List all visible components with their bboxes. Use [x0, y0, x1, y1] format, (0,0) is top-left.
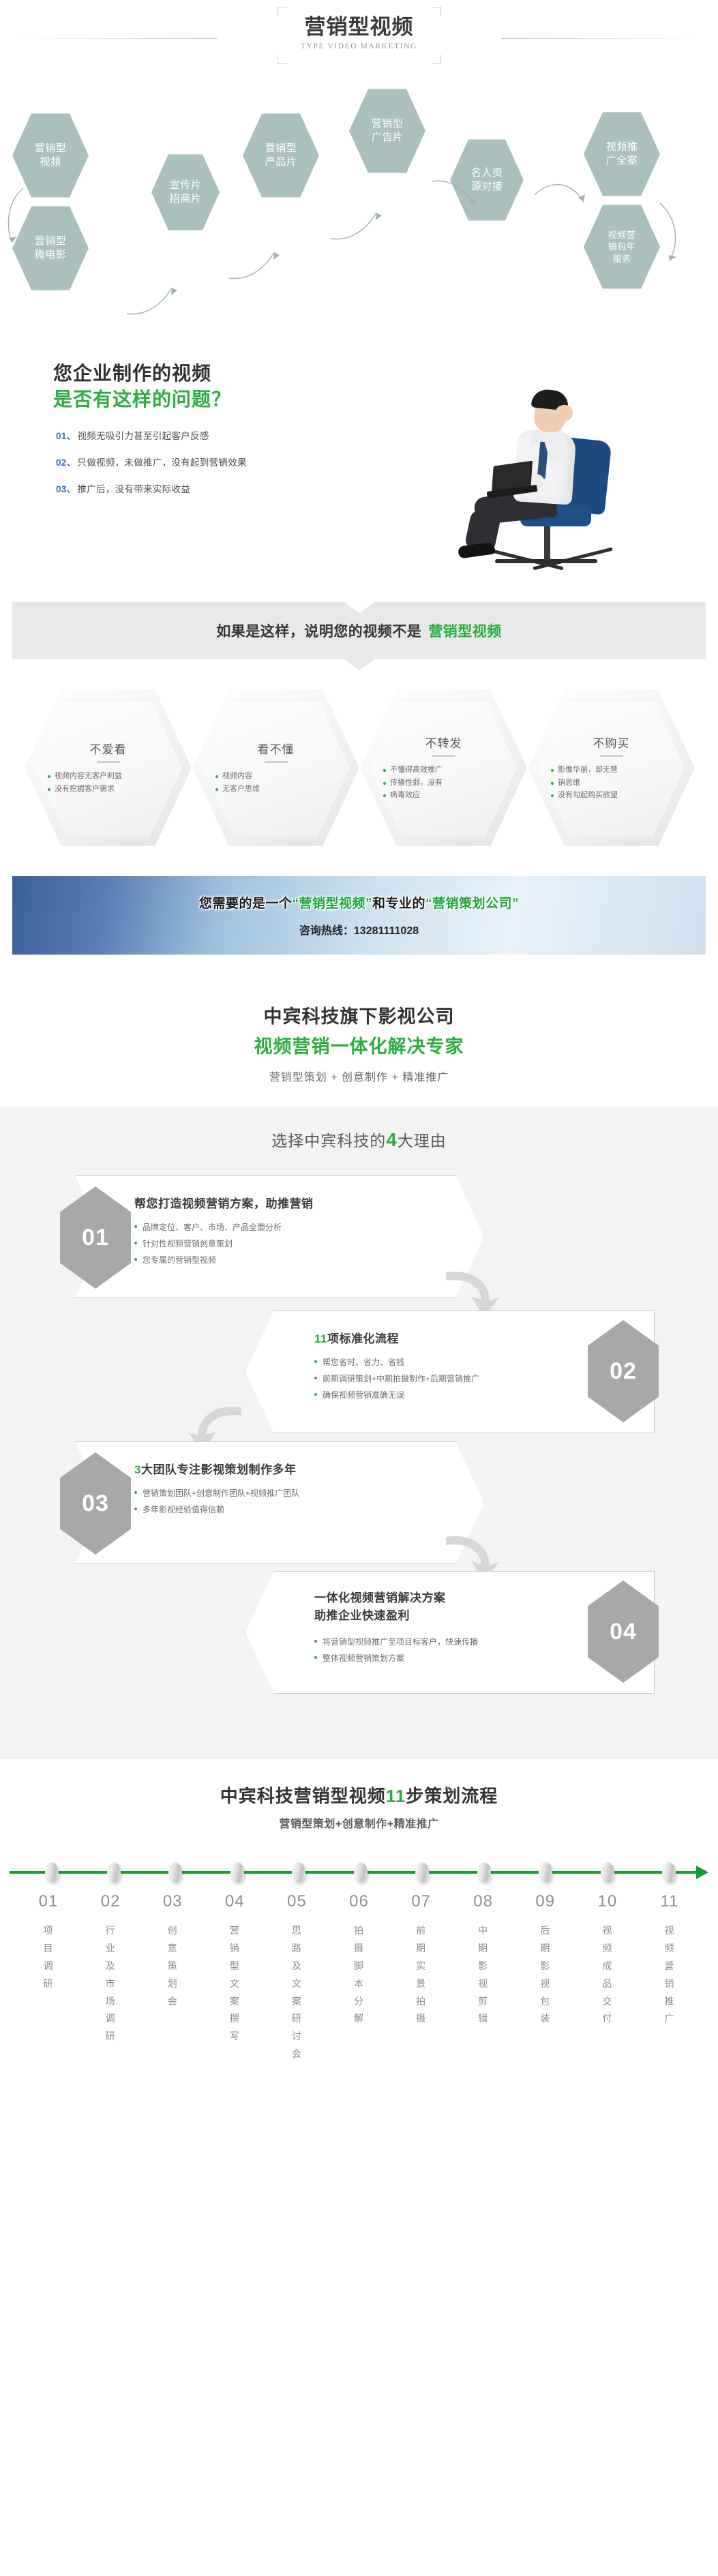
problem-item-text: 视频无吸引力甚至引起客户反感	[77, 431, 209, 441]
cta-hotline[interactable]: 咨询热线：13281111028	[299, 921, 419, 938]
company-slogan: 视频营销一体化解决专家	[0, 1032, 718, 1058]
reason-title: 帮您打造视频营销方案，助推营销	[134, 1194, 483, 1211]
header-rule-right	[501, 38, 706, 39]
hex-card-2[interactable]: 宣传片 招商片	[151, 153, 220, 232]
hotline-label: 咨询热线：	[299, 925, 354, 937]
symptom-hex-3[interactable]: 不转发 不懂得高效推广 传播性弱，没有 病毒效应	[360, 689, 527, 846]
hex-line: 销包年	[608, 241, 636, 253]
hex-line: 产品片	[265, 155, 297, 169]
problem-item-number: 02、	[56, 458, 76, 468]
symptom-point: 视频内容无客户利益	[48, 770, 168, 783]
conclusion-band: 如果是这样，说明您的视频不是营销型视频	[0, 597, 718, 684]
timeline-dot	[415, 1862, 429, 1883]
hex-line: 招商片	[170, 192, 202, 206]
step-number: 04	[213, 1892, 256, 1911]
step-label: 行业及市场调研	[89, 1922, 132, 2046]
reasons-heading-number: 4	[386, 1129, 398, 1150]
step-label: 营销型文案撰写	[213, 1922, 256, 2046]
cta-quote-2: “营销策划公司”	[425, 897, 519, 911]
cta-middle: 和专业的	[372, 897, 425, 911]
timeline-dot	[662, 1862, 676, 1883]
conclusion-text-plain: 如果是这样，说明您的视频不是	[216, 624, 421, 640]
step-label: 视频营销推广	[648, 1922, 691, 2028]
steps-section: 中宾科技营销型视频11步策划流程 营销型策划+创意制作+精准推广	[0, 1759, 718, 2088]
symptom-title: 不转发	[425, 734, 462, 751]
reason-title-number: 11	[314, 1332, 327, 1345]
step-number: 11	[648, 1892, 691, 1911]
connector-arrow-icon	[123, 280, 184, 320]
step-item[interactable]: 04 营销型文案撰写	[213, 1892, 256, 2063]
hex-line: 视频	[35, 155, 67, 169]
service-hex-cloud: 营销型 视频 宣传片 招商片 营销型 产品片 营销型 广告片 名人资	[0, 82, 718, 334]
timeline-dot	[354, 1862, 368, 1883]
corner-bracket-icon	[432, 7, 441, 16]
band-notch-top-icon	[344, 602, 374, 613]
problem-section: 您企业制作的视频 是否有这样的问题？ 01、视频无吸引力甚至引起客户反感 02、…	[0, 334, 718, 597]
cta-headline: 您需要的是一个“营销型视频”和专业的“营销策划公司”	[199, 893, 519, 912]
step-item[interactable]: 06 拍摄脚本分解	[338, 1892, 380, 2063]
problem-list-item: 03、推广后，没有带来实际收益	[56, 481, 247, 495]
step-label: 思路及文案研讨会	[275, 1922, 318, 2063]
problem-list-item: 01、视频无吸引力甚至引起客户反感	[56, 428, 247, 442]
symptom-point: 传播性弱，没有	[383, 777, 504, 790]
connector-arrow-icon	[430, 177, 491, 215]
symptom-hex-2[interactable]: 看不懂 视频内容 无客户思维	[192, 689, 359, 846]
step-label: 后期影视包装	[524, 1922, 567, 2028]
step-label: 拍摄脚本分解	[338, 1922, 380, 2028]
step-number: 05	[275, 1892, 318, 1911]
step-number: 03	[151, 1892, 194, 1911]
step-item[interactable]: 10 视频成品交付	[586, 1892, 629, 2063]
cta-banner: 您需要的是一个“营销型视频”和专业的“营销策划公司” 咨询热线：13281111…	[12, 876, 706, 955]
businessman-photo	[455, 341, 653, 566]
company-services: 营销型策划 + 创意制作 + 精准推广	[0, 1068, 718, 1084]
hotline-number: 13281111028	[354, 925, 419, 937]
header-title-block: 营销型视频 TYPE VIDEO MARKETING	[278, 7, 441, 64]
step-item[interactable]: 02 行业及市场调研	[89, 1892, 132, 2063]
step-item[interactable]: 08 中期影视剪辑	[462, 1892, 505, 2063]
connector-arrow-icon	[327, 205, 389, 245]
steps-columns: 01 项目调研 02 行业及市场调研 03 创意策划会 04 营销型文案撰写 0…	[10, 1892, 708, 2063]
band-notch-bottom-icon	[344, 659, 374, 670]
page-header: 营销型视频 TYPE VIDEO MARKETING	[0, 0, 718, 82]
step-label: 视频成品交付	[586, 1922, 629, 2028]
timeline-dot	[601, 1862, 614, 1883]
reason-title-plain: 一体化视频营销解决方案	[314, 1591, 446, 1604]
problem-title-line2: 是否有这样的问题？	[53, 385, 231, 412]
reason-title: 3大团队专注影视策划制作多年	[134, 1460, 483, 1477]
symptom-hex-4[interactable]: 不购买 影像华丽，却无营 销思维 没有勾起购买欲望	[528, 689, 695, 846]
symptom-point: 视频内容	[215, 770, 336, 783]
cta-quote-1: “营销型视频”	[292, 897, 372, 911]
symptom-title: 不爱看	[90, 740, 127, 757]
symptom-divider	[600, 755, 623, 757]
symptom-point: 病毒效应	[383, 789, 504, 802]
symptom-point: 影像华丽，却无营	[551, 764, 672, 777]
hex-card-4[interactable]: 营销型 广告片	[349, 87, 425, 175]
reason-point: 您专属的营销型视频	[134, 1252, 483, 1268]
steps-timeline	[10, 1862, 708, 1883]
step-item[interactable]: 05 思路及文案研讨会	[275, 1892, 318, 2063]
conclusion-text: 如果是这样，说明您的视频不是营销型视频	[216, 620, 502, 641]
symptom-point: 销思维	[551, 777, 672, 790]
corner-bracket-icon	[432, 55, 441, 64]
reason-title-number: 3	[134, 1463, 141, 1476]
steps-heading-number: 11	[386, 1786, 406, 1806]
reasons-heading: 选择中宾科技的4大理由	[0, 1128, 718, 1151]
timeline-dot	[45, 1862, 59, 1883]
reason-point: 品牌定位、客户、市场、产品全面分析	[134, 1219, 483, 1235]
step-number: 09	[524, 1892, 567, 1911]
hex-line: 服务	[608, 253, 636, 265]
reason-title-rest: 大团队专注影视策划制作多年	[141, 1463, 297, 1476]
step-label: 项目调研	[27, 1922, 70, 1993]
step-number: 10	[586, 1892, 629, 1911]
company-intro: 中宾科技旗下影视公司 视频营销一体化解决专家 营销型策划 + 创意制作 + 精准…	[0, 984, 718, 1107]
hex-line: 广全案	[606, 154, 638, 168]
symptom-divider	[97, 761, 120, 763]
hex-line: 营销型	[265, 142, 297, 155]
step-item[interactable]: 09 后期影视包装	[524, 1892, 567, 2063]
step-item[interactable]: 03 创意策划会	[151, 1892, 194, 2063]
cta-prefix: 您需要的是一个	[199, 897, 293, 911]
step-item[interactable]: 01 项目调研	[27, 1892, 70, 2063]
reasons-stage: 帮您打造视频营销方案，助推营销 品牌定位、客户、市场、产品全面分析 针对性视频营…	[0, 1169, 718, 1728]
symptom-title: 看不懂	[258, 740, 295, 757]
hex-line: 视频营	[608, 229, 636, 241]
problem-item-number: 03、	[56, 484, 76, 494]
connector-arrow-icon	[655, 199, 695, 274]
symptom-title: 不购买	[593, 734, 630, 751]
reasons-section: 选择中宾科技的4大理由 帮您打造视频营销方案，助推营销 品牌定位、客户、市场、产…	[0, 1107, 718, 1759]
problem-list: 01、视频无吸引力甚至引起客户反感 02、只做视频，未做推广，没有起到营销效果 …	[56, 428, 247, 508]
timeline-dots	[10, 1862, 708, 1883]
reason-card-3[interactable]: 3大团队专注影视策划制作多年 营销策划团队+创意制作团队+视频推广团队 多年影视…	[75, 1441, 484, 1564]
symptom-hex-row: 不爱看 视频内容无客户利益 没有挖掘客户需求 看不懂 视频内容 无客户思维 不转…	[0, 684, 718, 854]
reason-point: 多年影视经验值得信赖	[134, 1501, 483, 1518]
steps-heading-suffix: 步策划流程	[406, 1786, 498, 1806]
reason-card-1[interactable]: 帮您打造视频营销方案，助推营销 品牌定位、客户、市场、产品全面分析 针对性视频营…	[75, 1175, 484, 1298]
step-number: 06	[338, 1892, 380, 1911]
symptom-point: 没有勾起购买欲望	[551, 789, 672, 802]
reason-point: 营销策划团队+创意制作团队+视频推广团队	[134, 1485, 483, 1501]
problem-item-number: 01、	[56, 431, 76, 441]
symptom-divider	[265, 761, 288, 763]
header-rule-left	[12, 38, 217, 39]
steps-subtitle: 营销型策划+创意制作+精准推广	[0, 1814, 718, 1831]
hex-card-3[interactable]: 营销型 产品片	[243, 112, 319, 199]
cta-section: 您需要的是一个“营销型视频”和专业的“营销策划公司” 咨询热线：13281111…	[0, 854, 718, 984]
company-name: 中宾科技旗下影视公司	[0, 1002, 718, 1028]
symptom-divider	[432, 755, 455, 757]
reasons-heading-prefix: 选择中宾科技的	[271, 1132, 386, 1150]
problem-item-text: 只做视频，未做推广，没有起到营销效果	[77, 458, 246, 468]
corner-bracket-icon	[278, 55, 287, 64]
reason-title-plain: 帮您打造视频营销方案，助推营销	[134, 1197, 314, 1210]
corner-bracket-icon	[278, 7, 287, 16]
hex-line: 广告片	[372, 131, 404, 145]
symptom-hex-1[interactable]: 不爱看 视频内容无客户利益 没有挖掘客户需求	[25, 689, 192, 846]
symptom-point: 无客户思维	[215, 783, 336, 796]
hex-line: 营销型	[35, 142, 67, 155]
hex-line: 宣传片	[170, 179, 202, 192]
timeline-dot	[477, 1862, 491, 1883]
reasons-heading-suffix: 大理由	[398, 1132, 447, 1150]
connector-arrow-icon	[0, 184, 41, 259]
step-label: 中期影视剪辑	[462, 1922, 505, 2028]
step-label: 前期实景拍摄	[400, 1922, 443, 2028]
step-item[interactable]: 07 前期实景拍摄	[400, 1892, 443, 2063]
reason-title-rest: 项标准化流程	[327, 1332, 399, 1345]
symptom-point: 不懂得高效推广	[383, 764, 504, 777]
step-number: 01	[27, 1892, 70, 1911]
page-title: 营销型视频	[278, 15, 441, 40]
problem-list-item: 02、只做视频，未做推广，没有起到营销效果	[56, 455, 247, 468]
timeline-dot	[107, 1862, 121, 1883]
hex-line: 视频推	[606, 140, 638, 154]
steps-heading: 中宾科技营销型视频11步策划流程	[0, 1782, 718, 1808]
step-item[interactable]: 11 视频营销推广	[648, 1892, 691, 2063]
step-number: 08	[462, 1892, 505, 1911]
hex-card-6[interactable]: 视频推 广全案	[584, 110, 660, 198]
problem-item-text: 推广后，没有带来实际收益	[77, 484, 190, 494]
timeline-dot	[168, 1862, 182, 1883]
conclusion-text-highlight: 营销型视频	[428, 624, 502, 640]
step-number: 02	[89, 1892, 132, 1911]
timeline-dot	[292, 1862, 305, 1883]
step-label: 创意策划会	[151, 1922, 194, 2010]
page-subtitle: TYPE VIDEO MARKETING	[278, 42, 441, 50]
landing-page: 营销型视频 TYPE VIDEO MARKETING 营销型 视频 宣传片 招商…	[0, 0, 718, 2088]
connector-arrow-icon	[532, 179, 593, 216]
hex-line: 营销型	[372, 117, 404, 131]
reason-point: 针对性视频营销创意策划	[134, 1235, 483, 1252]
problem-title-line1: 您企业制作的视频	[53, 359, 211, 386]
connector-arrow-icon	[225, 244, 286, 285]
steps-heading-prefix: 中宾科技营销型视频	[220, 1786, 386, 1806]
timeline-dot	[230, 1862, 244, 1883]
step-number: 07	[400, 1892, 443, 1911]
reason-title-rest: 助推企业快速盈利	[314, 1609, 410, 1622]
hex-card-8[interactable]: 视频营 销包年 服务	[584, 203, 660, 290]
timeline-dot	[539, 1862, 552, 1883]
symptom-point: 没有挖掘客户需求	[48, 783, 168, 796]
